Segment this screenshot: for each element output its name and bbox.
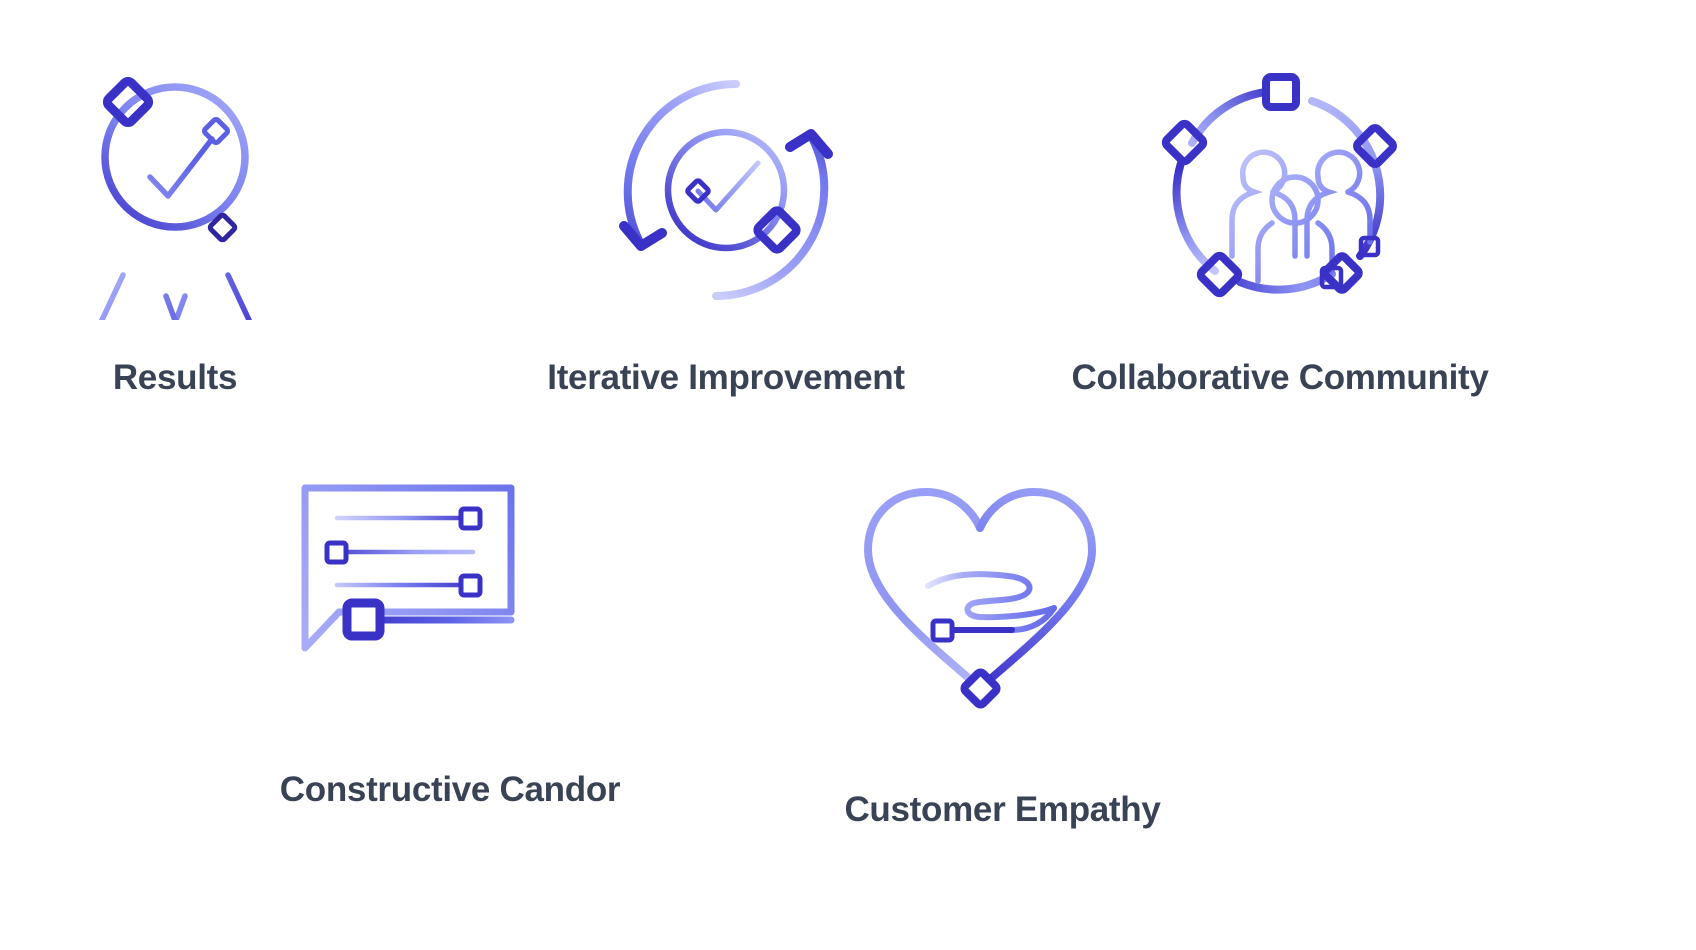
- value-label-constructive-candor: Constructive Candor: [280, 770, 620, 810]
- value-card-constructive-candor: Constructive Candor: [275, 470, 625, 750]
- value-label-customer-empathy: Customer Empathy: [844, 790, 1160, 830]
- values-grid: Results: [0, 0, 1696, 950]
- value-label-collaborative-community: Collaborative Community: [1071, 358, 1488, 398]
- circular-arrows-checkmark-icon: [540, 60, 912, 320]
- value-label-iterative-improvement: Iterative Improvement: [547, 358, 904, 398]
- value-card-collaborative-community: Collaborative Community: [1060, 60, 1500, 370]
- heart-hand-icon: [840, 470, 1165, 720]
- value-label-results: Results: [113, 358, 237, 398]
- value-card-results: Results: [0, 60, 350, 370]
- speech-bubble-sliders-icon: [275, 470, 625, 700]
- value-card-customer-empathy: Customer Empathy: [840, 470, 1165, 770]
- people-network-circle-icon: [1060, 60, 1500, 320]
- award-ribbon-checkmark-icon: [0, 60, 350, 320]
- value-card-iterative-improvement: Iterative Improvement: [540, 60, 912, 370]
